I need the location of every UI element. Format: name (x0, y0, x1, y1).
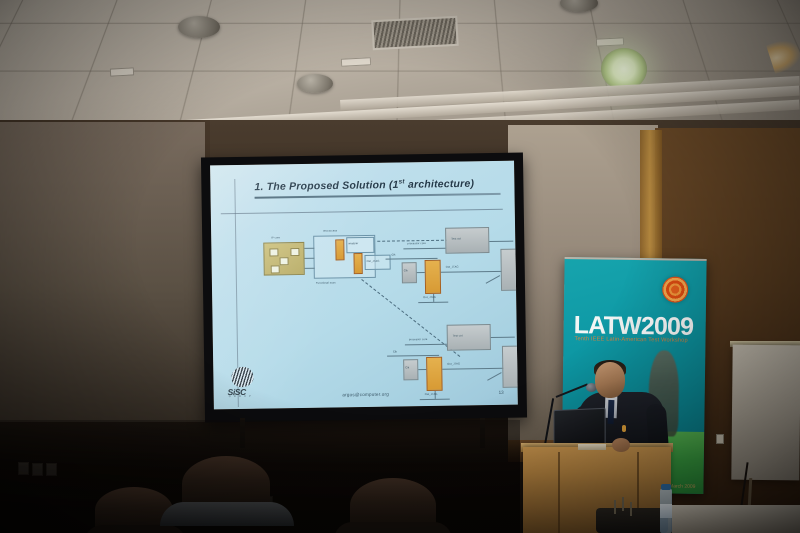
speaker-lapel-pin (622, 425, 626, 432)
speaker-hand (612, 438, 630, 452)
presentation-slide: 1. The Proposed Solution (1st architectu… (210, 161, 518, 410)
banner-subtitle: Tenth IEEE Latin-American Test Workshop (574, 336, 702, 344)
wall-outlet-icon (32, 463, 43, 476)
desk-items (596, 508, 668, 533)
ceiling-slot-light (341, 57, 371, 67)
lower-output-mux (502, 345, 518, 387)
ceiling-slot-light (596, 37, 624, 46)
left-plaster-wall (0, 122, 205, 422)
projection-screen: 1. The Proposed Solution (1st architectu… (201, 152, 527, 422)
diagram-label: Test ctrl (453, 334, 463, 337)
speaker-tie (608, 400, 615, 424)
projection-surface: 1. The Proposed Solution (1st architectu… (210, 161, 518, 410)
audience-member (95, 487, 173, 533)
audience-member (350, 478, 436, 533)
screen-stand (236, 418, 488, 448)
speaker-head (595, 362, 625, 398)
air-vent-icon (371, 16, 458, 50)
water-bottle-cap (661, 484, 671, 490)
side-table (672, 505, 800, 533)
flipchart-easel (731, 345, 800, 481)
podium-plaque (578, 444, 606, 450)
upper-output-mux (500, 248, 517, 290)
lower-register-block (426, 357, 443, 391)
podium-seam (558, 452, 560, 533)
concentric-target-icon (662, 276, 688, 302)
diagram-label: Out_JTAG (446, 266, 459, 269)
ceiling-slot-light (110, 67, 134, 76)
smoke-detector-icon (178, 16, 220, 38)
wall-switch-icon (716, 434, 724, 444)
diagram-label: Out_JTAG (423, 296, 436, 299)
ceiling (0, 0, 800, 135)
banner-bottom-text: March 2009 (669, 484, 695, 490)
projector-glare (210, 161, 448, 410)
audience-member (182, 456, 270, 512)
conference-photo: LATW2009 Tenth IEEE Latin-American Test … (0, 0, 800, 533)
slide-page-number: 13 (499, 390, 504, 395)
wall-outlet-icon (18, 462, 29, 475)
diagram-label: Test ctrl (451, 237, 461, 240)
ceiling-speaker-icon (297, 74, 333, 93)
wall-outlet-icon (46, 463, 57, 476)
water-bottle-label (660, 504, 672, 518)
diagram-label: Out_JTAG (447, 363, 460, 366)
